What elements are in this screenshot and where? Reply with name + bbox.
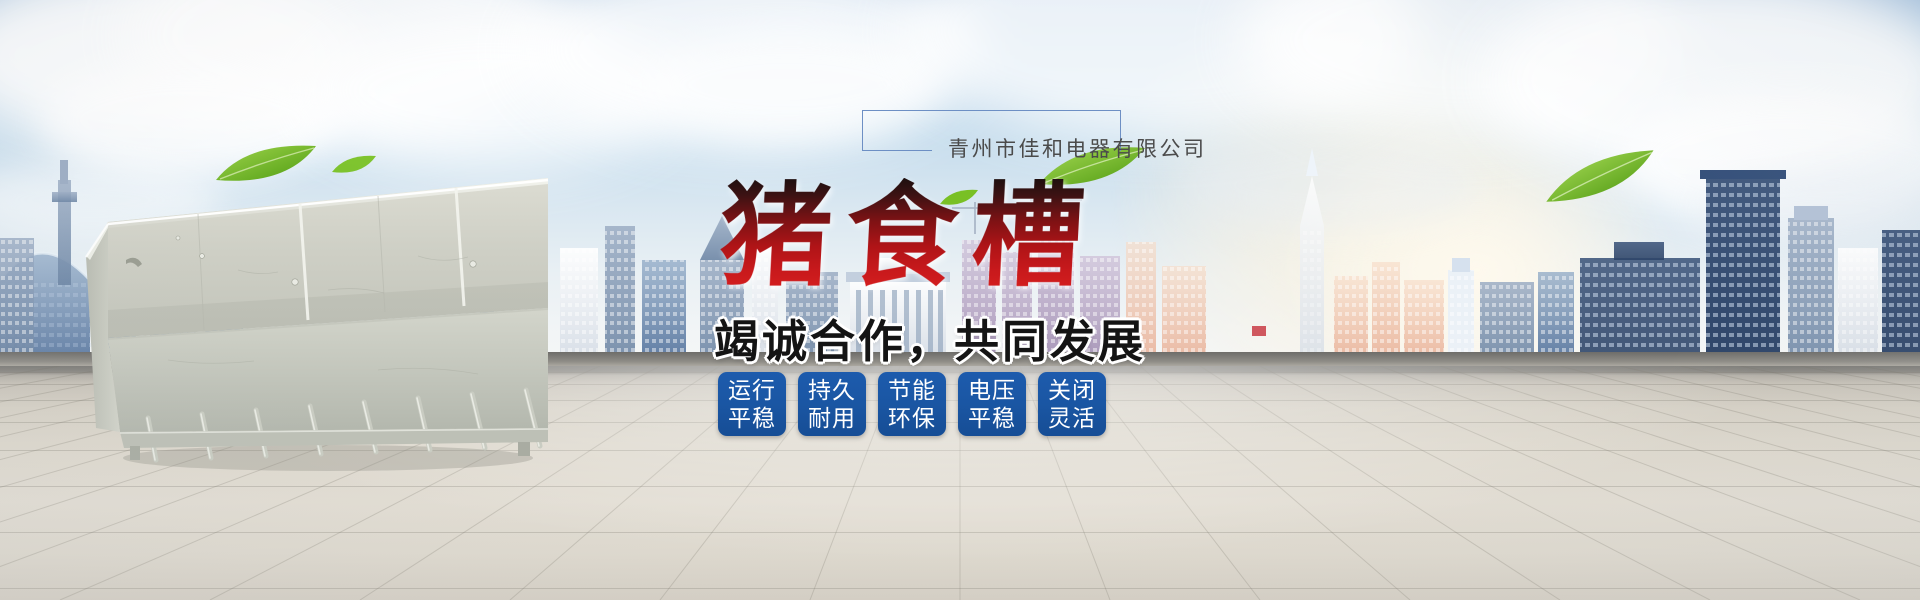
feature-badge[interactable]: 电压 平稳 xyxy=(958,372,1026,436)
green-leaf-icon xyxy=(212,140,322,190)
feature-badge[interactable]: 持久 耐用 xyxy=(798,372,866,436)
badge-line-2: 灵活 xyxy=(1048,404,1096,432)
badge-line-1: 节能 xyxy=(888,376,936,404)
badge-line-2: 环保 xyxy=(888,404,936,432)
main-title: 猪食槽 xyxy=(720,178,1280,298)
company-frame-bottom xyxy=(862,150,932,151)
text-content-block: 青州市佳和电器有限公司 猪食槽 竭诚合作，共同发展 运行 平稳 持久 耐用 节能… xyxy=(690,100,1310,540)
promotional-banner: 青州市佳和电器有限公司 猪食槽 竭诚合作，共同发展 运行 平稳 持久 耐用 节能… xyxy=(0,0,1920,600)
badge-line-1: 关闭 xyxy=(1048,376,1096,404)
feature-badge[interactable]: 运行 平稳 xyxy=(718,372,786,436)
feature-badge[interactable]: 节能 环保 xyxy=(878,372,946,436)
badge-line-2: 平稳 xyxy=(728,404,776,432)
badge-line-1: 电压 xyxy=(968,376,1016,404)
feature-badge-list: 运行 平稳 持久 耐用 节能 环保 电压 平稳 关闭 灵活 xyxy=(718,372,1106,436)
company-frame-left xyxy=(862,110,863,150)
badge-line-1: 持久 xyxy=(808,376,856,404)
main-title-text: 猪食槽 xyxy=(717,178,1283,296)
badge-line-2: 平稳 xyxy=(968,404,1016,432)
company-name: 青州市佳和电器有限公司 xyxy=(948,133,1207,163)
subtitle: 竭诚合作，共同发展 xyxy=(714,305,1284,370)
badge-line-2: 耐用 xyxy=(808,404,856,432)
badge-line-1: 运行 xyxy=(728,376,776,404)
feature-badge[interactable]: 关闭 灵活 xyxy=(1038,372,1106,436)
green-leaf-icon xyxy=(330,152,378,178)
pig-feeding-trough-product xyxy=(78,160,558,470)
